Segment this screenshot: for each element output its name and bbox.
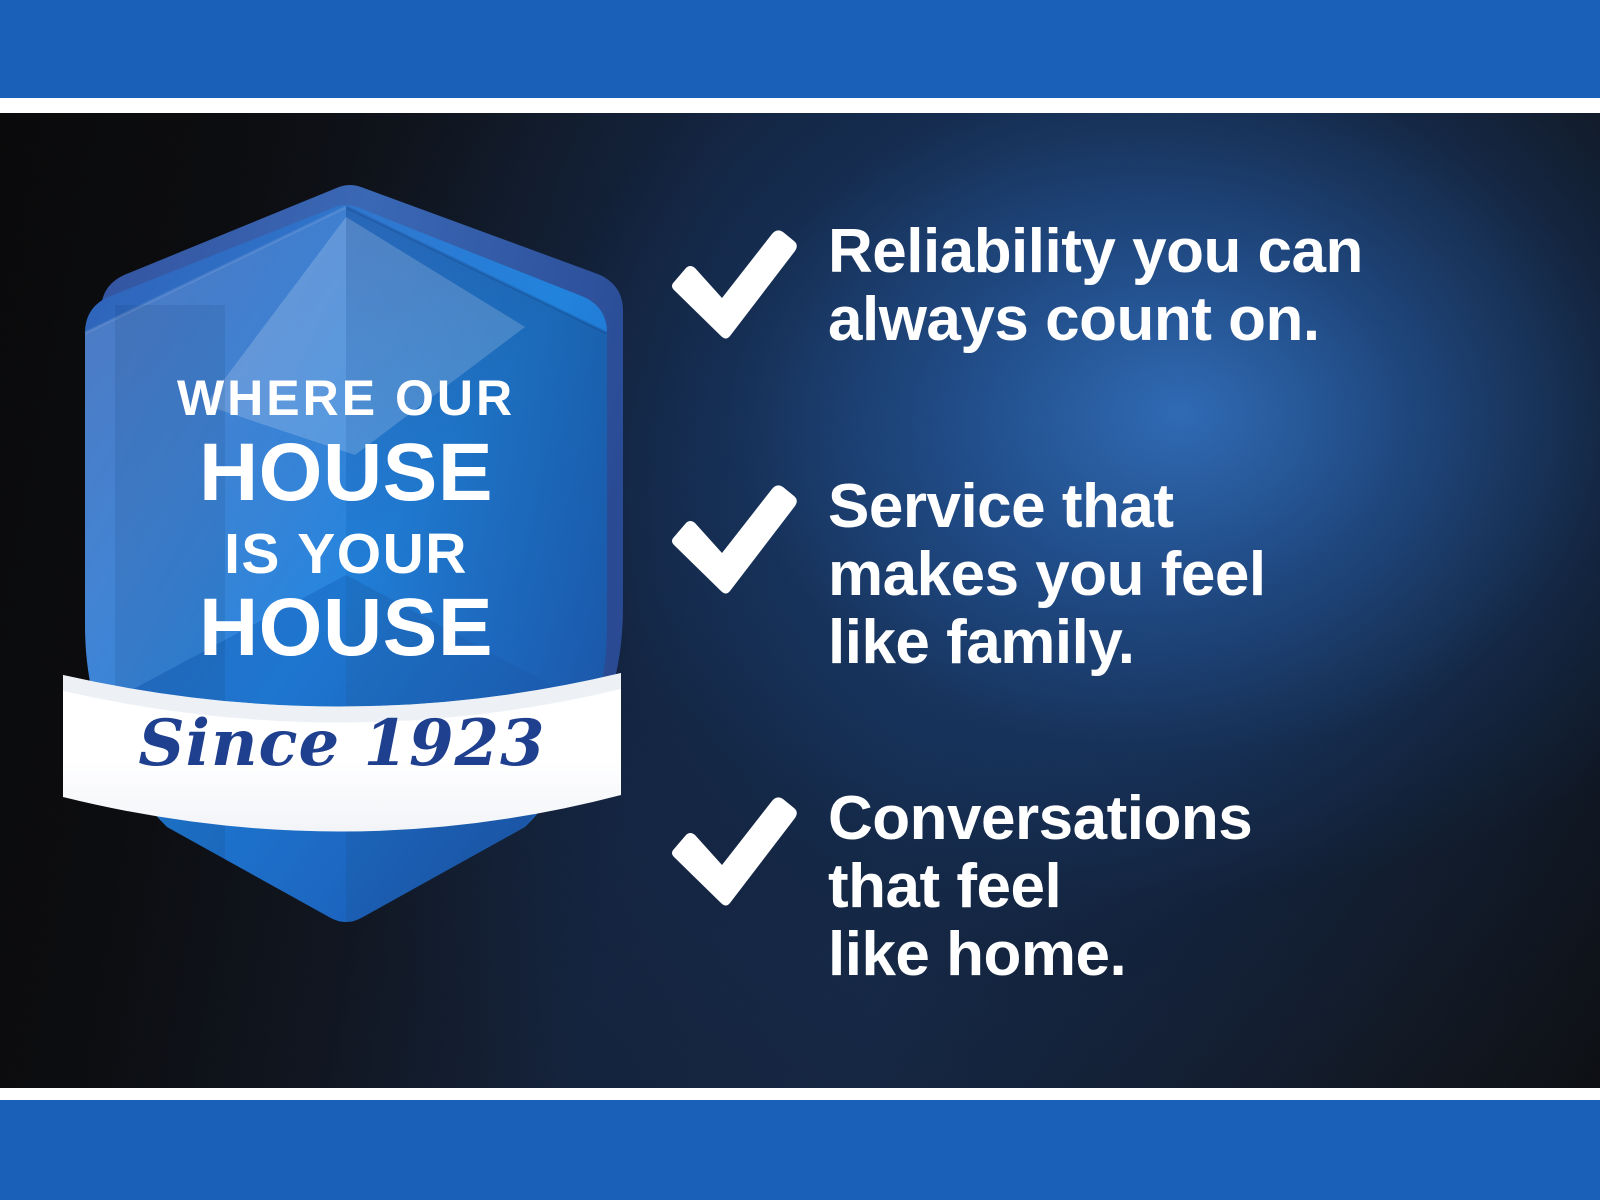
- shield-badge: WHERE OUR HOUSE IS YOUR HOUSE Since 1923: [55, 155, 630, 955]
- benefit-item: Reliability you can always count on.: [660, 218, 1560, 354]
- benefit-text: Service that makes you feel like family.: [828, 473, 1560, 678]
- shield-line-4: HOUSE: [199, 582, 493, 673]
- top-brand-band: [0, 0, 1600, 98]
- shield-line-1: WHERE OUR: [177, 370, 515, 426]
- checkmark-icon: [660, 218, 828, 342]
- checkmark-icon: [660, 785, 828, 909]
- checkmark-icon: [660, 473, 828, 597]
- benefit-item: Conversations that feel like home.: [660, 785, 1560, 990]
- bottom-brand-band: [0, 1100, 1600, 1200]
- shield-line-3: IS YOUR: [224, 522, 468, 586]
- shield-line-2: HOUSE: [199, 427, 493, 518]
- benefit-text: Reliability you can always count on.: [828, 218, 1560, 354]
- benefit-item: Service that makes you feel like family.: [660, 473, 1560, 678]
- promo-graphic: WHERE OUR HOUSE IS YOUR HOUSE Since 1923…: [0, 0, 1600, 1200]
- ribbon-text: Since 1923: [138, 706, 545, 781]
- benefits-list: Reliability you can always count on. Ser…: [660, 113, 1560, 1088]
- benefit-text: Conversations that feel like home.: [828, 785, 1560, 990]
